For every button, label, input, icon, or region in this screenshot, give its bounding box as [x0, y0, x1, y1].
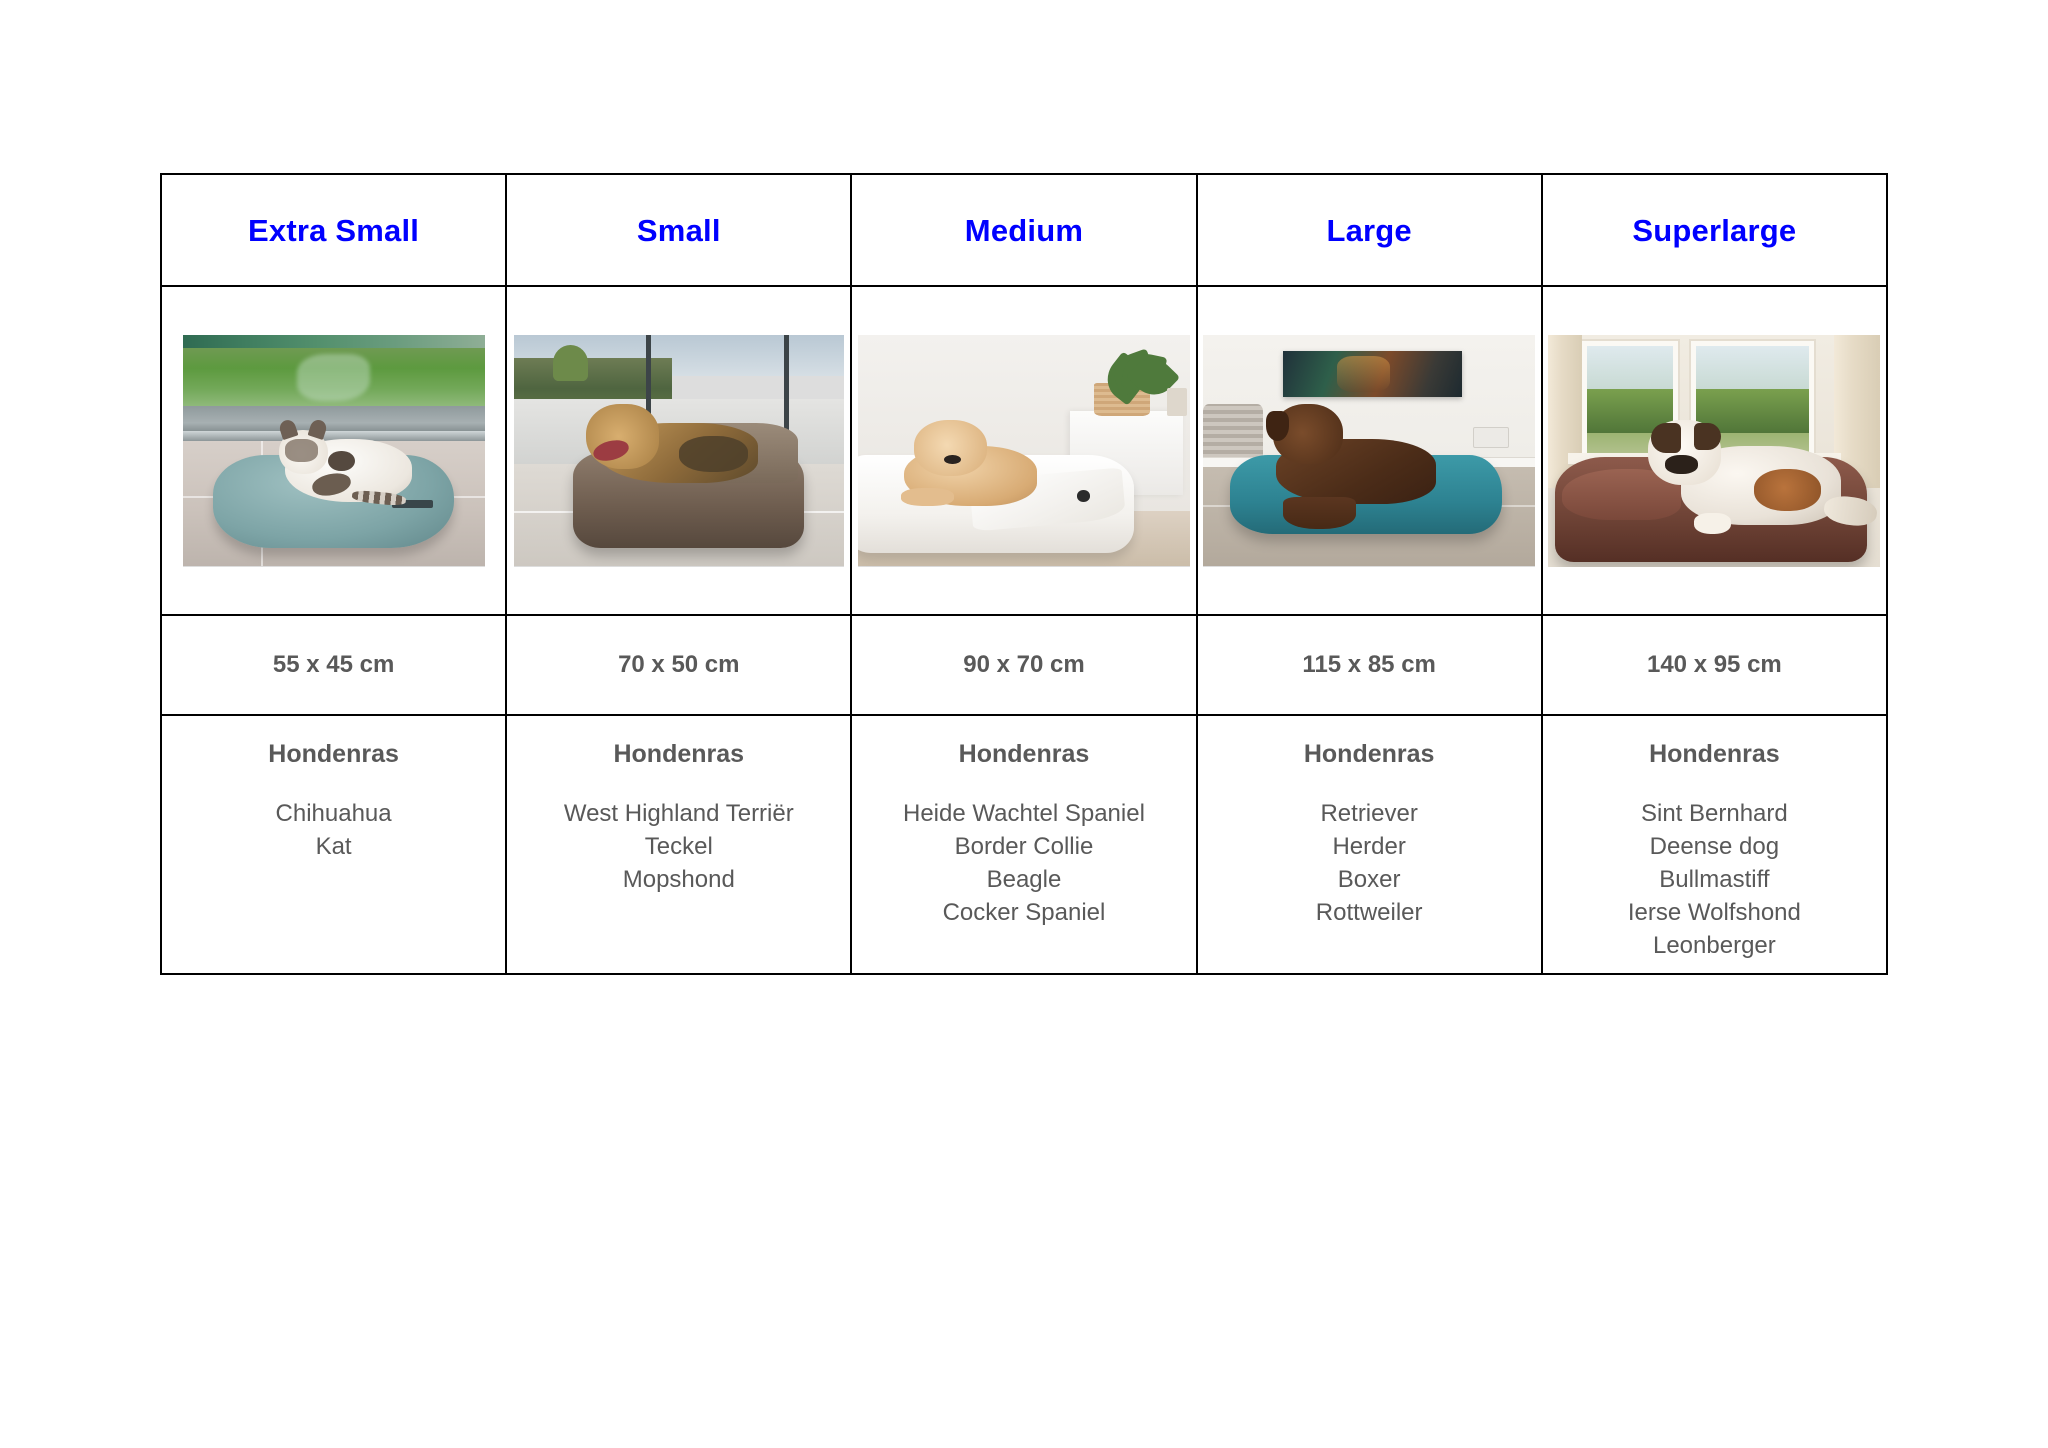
header-cell-small: Small	[506, 174, 851, 286]
breed-cell-superlarge: Hondenras Sint Bernhard Deense dog Bullm…	[1542, 715, 1887, 974]
breed-item: Deense dog	[1543, 830, 1886, 863]
header-cell-large: Large	[1197, 174, 1542, 286]
breed-cell-small: Hondenras West Highland Terriër Teckel M…	[506, 715, 851, 974]
breed-item: Bullmastiff	[1543, 863, 1886, 896]
breed-section-title: Hondenras	[507, 742, 850, 767]
breed-section-title: Hondenras	[852, 742, 1195, 767]
product-photo-medium	[858, 335, 1190, 567]
size-header-label: Small	[637, 213, 721, 248]
table-dimension-row: 55 x 45 cm 70 x 50 cm 90 x 70 cm 115 x 8…	[161, 615, 1887, 715]
breed-item: Rottweiler	[1198, 896, 1541, 929]
breed-item: Cocker Spaniel	[852, 896, 1195, 929]
size-header-label: Large	[1326, 213, 1411, 248]
photo-cell-large	[1197, 286, 1542, 615]
photo-scene	[1548, 335, 1880, 567]
dimension-label: 90 x 70 cm	[963, 651, 1084, 678]
photo-scene	[514, 335, 844, 567]
dimension-cell-superlarge: 140 x 95 cm	[1542, 615, 1887, 715]
breed-cell-large: Hondenras Retriever Herder Boxer Rottwei…	[1197, 715, 1542, 974]
photo-scene	[858, 335, 1190, 567]
breed-item: Ierse Wolfshond	[1543, 896, 1886, 929]
document-page: Extra Small Small Medium Large Superlarg…	[0, 0, 2048, 1448]
photo-scene	[183, 335, 485, 567]
product-photo-small	[514, 335, 844, 567]
breed-item: Chihuahua	[162, 797, 505, 830]
header-cell-extra-small: Extra Small	[161, 174, 506, 286]
dimension-label: 140 x 95 cm	[1647, 651, 1782, 678]
product-photo-large	[1203, 335, 1535, 567]
breed-list: Retriever Herder Boxer Rottweiler	[1198, 797, 1541, 929]
breed-item: West Highland Terriër	[507, 797, 850, 830]
size-header-label: Extra Small	[248, 213, 419, 248]
product-photo-superlarge	[1548, 335, 1880, 567]
breed-section-title: Hondenras	[1543, 742, 1886, 767]
table-photo-row	[161, 286, 1887, 615]
breed-cell-medium: Hondenras Heide Wachtel Spaniel Border C…	[851, 715, 1196, 974]
breed-section-title: Hondenras	[162, 742, 505, 767]
breed-item: Sint Bernhard	[1543, 797, 1886, 830]
photo-cell-extra-small	[161, 286, 506, 615]
breed-list: Sint Bernhard Deense dog Bullmastiff Ier…	[1543, 797, 1886, 963]
size-header-label: Medium	[965, 213, 1083, 248]
breed-item: Retriever	[1198, 797, 1541, 830]
breed-item: Teckel	[507, 830, 850, 863]
breed-item: Border Collie	[852, 830, 1195, 863]
breed-item: Beagle	[852, 863, 1195, 896]
table-header-row: Extra Small Small Medium Large Superlarg…	[161, 174, 1887, 286]
photo-cell-small	[506, 286, 851, 615]
photo-cell-medium	[851, 286, 1196, 615]
photo-scene	[1203, 335, 1535, 567]
dimension-cell-small: 70 x 50 cm	[506, 615, 851, 715]
dimension-label: 70 x 50 cm	[618, 651, 739, 678]
dog-bed-size-table: Extra Small Small Medium Large Superlarg…	[160, 173, 1888, 975]
breed-item: Boxer	[1198, 863, 1541, 896]
breed-list: Chihuahua Kat	[162, 797, 505, 863]
dimension-label: 55 x 45 cm	[273, 651, 394, 678]
dimension-cell-large: 115 x 85 cm	[1197, 615, 1542, 715]
breed-list: West Highland Terriër Teckel Mopshond	[507, 797, 850, 896]
breed-section-title: Hondenras	[1198, 742, 1541, 767]
dimension-cell-medium: 90 x 70 cm	[851, 615, 1196, 715]
breed-cell-extra-small: Hondenras Chihuahua Kat	[161, 715, 506, 974]
table-breed-row: Hondenras Chihuahua Kat Hondenras West H…	[161, 715, 1887, 974]
size-header-label: Superlarge	[1632, 213, 1796, 248]
breed-list: Heide Wachtel Spaniel Border Collie Beag…	[852, 797, 1195, 929]
breed-item: Herder	[1198, 830, 1541, 863]
breed-item: Heide Wachtel Spaniel	[852, 797, 1195, 830]
product-photo-extra-small	[183, 335, 485, 567]
dimension-cell-extra-small: 55 x 45 cm	[161, 615, 506, 715]
breed-item: Kat	[162, 830, 505, 863]
header-cell-medium: Medium	[851, 174, 1196, 286]
header-cell-superlarge: Superlarge	[1542, 174, 1887, 286]
photo-cell-superlarge	[1542, 286, 1887, 615]
dimension-label: 115 x 85 cm	[1302, 651, 1435, 678]
breed-item: Mopshond	[507, 863, 850, 896]
breed-item: Leonberger	[1543, 929, 1886, 962]
